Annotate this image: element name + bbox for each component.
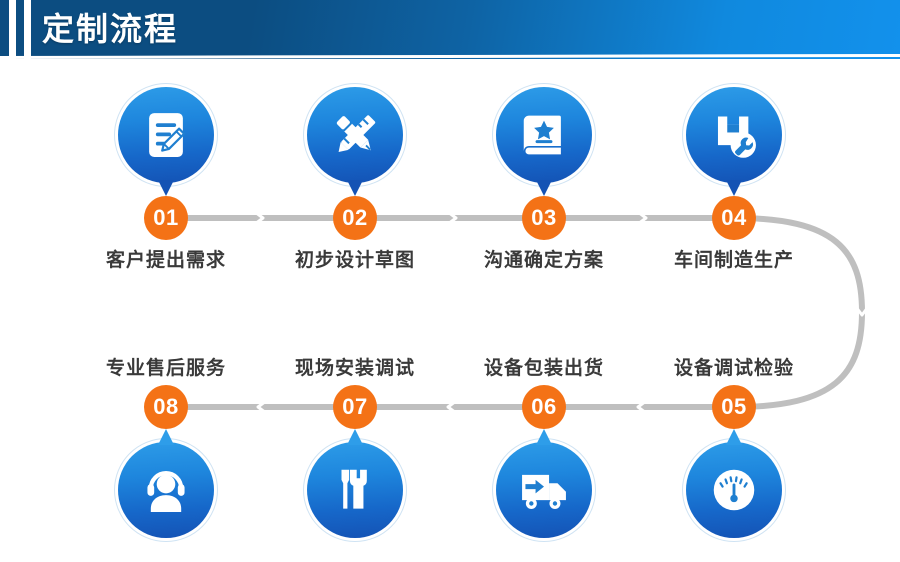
step-bubble-07[interactable] <box>307 442 403 538</box>
step-badge-04[interactable]: 04 <box>712 196 756 240</box>
step-badge-06[interactable]: 06 <box>522 385 566 429</box>
step-bubble-08[interactable] <box>118 442 214 538</box>
gauge-icon <box>707 463 761 517</box>
bubble-tail <box>158 180 174 196</box>
step-badge-01[interactable]: 01 <box>144 196 188 240</box>
headset-person-icon <box>139 463 193 517</box>
step-bubble-06[interactable] <box>496 442 592 538</box>
screwdriver-wrench-icon <box>328 463 382 517</box>
step-bubble-02[interactable] <box>307 87 403 183</box>
ruler-pencil-icon <box>328 108 382 162</box>
page-header: 定制流程 <box>0 0 900 59</box>
factory-wrench-icon <box>707 108 761 162</box>
step-label-05: 设备调试检验 <box>639 353 829 380</box>
document-pencil-icon <box>139 108 193 162</box>
bubble-tail <box>536 429 552 445</box>
step-label-04: 车间制造生产 <box>639 245 829 272</box>
step-label-08: 专业售后服务 <box>71 353 261 380</box>
step-badge-03[interactable]: 03 <box>522 196 566 240</box>
arrow-chevron-down-icon <box>856 307 868 315</box>
bubble-tail <box>726 180 742 196</box>
arrow-chevron-left-icon <box>258 401 646 413</box>
bubble-tail <box>536 180 552 196</box>
header-accent-bar-1 <box>9 0 16 59</box>
step-badge-08[interactable]: 08 <box>144 385 188 429</box>
infographic-page: 定制流程 <box>0 0 900 562</box>
bubble-tail <box>158 429 174 445</box>
step-bubble-05[interactable] <box>686 442 782 538</box>
step-label-01: 客户提出需求 <box>71 245 261 272</box>
step-label-07: 现场安装调试 <box>260 353 450 380</box>
step-badge-02[interactable]: 02 <box>333 196 377 240</box>
bubble-tail <box>726 429 742 445</box>
header-accent-bar-2 <box>24 0 31 59</box>
arrow-chevron-right-icon <box>255 212 646 224</box>
step-bubble-03[interactable] <box>496 87 592 183</box>
delivery-truck-icon <box>517 463 571 517</box>
step-bubble-04[interactable] <box>686 87 782 183</box>
page-title: 定制流程 <box>42 6 178 52</box>
step-bubble-01[interactable] <box>118 87 214 183</box>
step-badge-07[interactable]: 07 <box>333 385 377 429</box>
step-label-02: 初步设计草图 <box>260 245 450 272</box>
book-star-icon <box>517 108 571 162</box>
step-label-03: 沟通确定方案 <box>449 245 639 272</box>
step-badge-05[interactable]: 05 <box>712 385 756 429</box>
bubble-tail <box>347 429 363 445</box>
bubble-tail <box>347 180 363 196</box>
step-label-06: 设备包装出货 <box>449 353 639 380</box>
